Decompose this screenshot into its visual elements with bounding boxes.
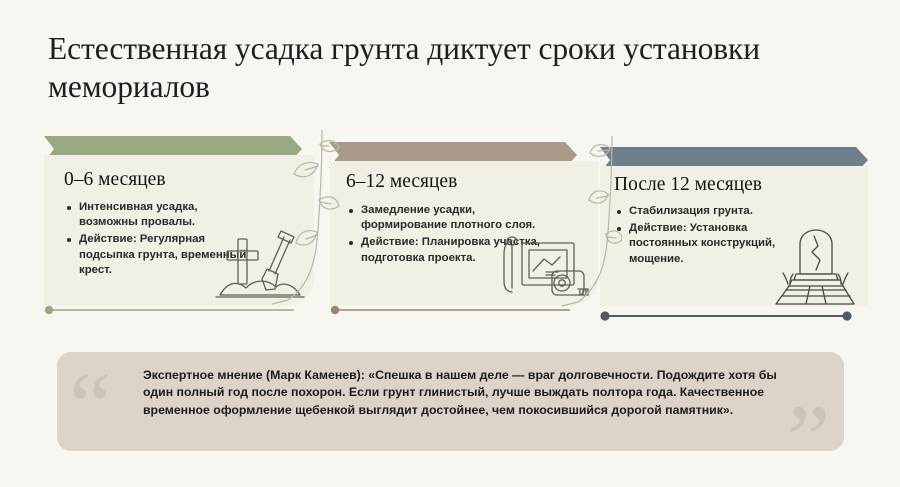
card-heading-6-12: 6–12 месяцев bbox=[346, 171, 457, 193]
card-bullet-list-after-12: Стабилизация грунта. Действие: Установка… bbox=[616, 204, 812, 269]
list-item: Замедление усадки, формирование плотного… bbox=[348, 203, 548, 233]
list-item: Стабилизация грунта. bbox=[616, 204, 812, 219]
timeline-card-0-6: 0–6 месяцев Интенсивная усадка, возможны… bbox=[44, 155, 314, 305]
timeline-rail-after-12 bbox=[600, 311, 852, 321]
quote-text: Экспертное мнение (Марк Каменев): «Спешк… bbox=[143, 367, 803, 419]
card-heading-after-12: После 12 месяцев bbox=[614, 174, 762, 196]
list-item: Действие: Регулярная подсыпка грунта, вр… bbox=[66, 232, 248, 278]
page-title: Естественная усадка грунта диктует сроки… bbox=[48, 30, 788, 106]
list-item: Интенсивная усадка, возможны провалы. bbox=[66, 200, 248, 230]
list-item: Действие: Планировка участка, подготовка… bbox=[348, 235, 548, 265]
list-item: Действие: Установка постоянных конструкц… bbox=[616, 221, 812, 267]
card-heading-0-6: 0–6 месяцев bbox=[64, 169, 166, 191]
timeline-rail-6-12 bbox=[330, 305, 570, 315]
expert-quote-box: “ ” Экспертное мнение (Марк Каменев): «С… bbox=[57, 352, 844, 451]
card-bullet-list-6-12: Замедление усадки, формирование плотного… bbox=[348, 203, 548, 268]
quote-open-mark: “ bbox=[69, 358, 112, 451]
timeline-rail-0-6 bbox=[44, 305, 294, 315]
timeline-card-after-12: После 12 месяцев Стабилизация грунта. Де… bbox=[600, 166, 868, 306]
infographic-canvas: Естественная усадка грунта диктует сроки… bbox=[0, 0, 900, 487]
card-bullet-list-0-6: Интенсивная усадка, возможны провалы. Де… bbox=[66, 200, 248, 280]
timeline-card-6-12: 6–12 месяцев Замедление усадки, формиров… bbox=[330, 161, 598, 305]
